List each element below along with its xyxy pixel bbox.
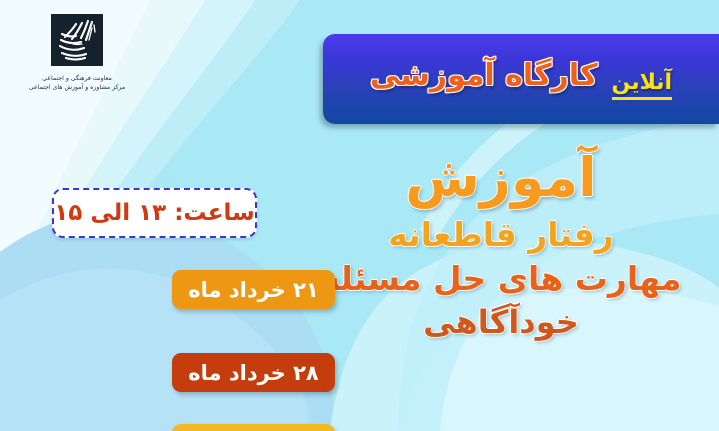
heading-line3: مهارت های حل مسئله [301,261,701,297]
university-seal-icon [48,12,106,70]
banner-subtitle: آنلاین [612,70,673,100]
date-badge-3: ۴ تیر ماه [172,424,335,431]
logo-caption-line2: مرکز مشاوره و آموزش های اجتماعی [12,84,142,93]
date-badge-2: ۲۸ خرداد ماه [172,353,335,392]
date-badge-1: ۲۱ خرداد ماه [172,270,335,309]
workshop-poster: معاونت فرهنگی و اجتماعی مرکز مشاوره و آم… [0,0,719,431]
heading-line2: رفتار قاطعانه [301,217,701,253]
logo-caption: معاونت فرهنگی و اجتماعی مرکز مشاوره و آم… [12,75,142,93]
banner-title: کارگاه آموزشی [370,58,598,93]
time-badge: ساعت: ۱۳ الی ۱۵ [52,188,257,238]
heading-group: آموزش رفتار قاطعانه مهارت های حل مسئله خ… [301,150,701,340]
logo-caption-line1: معاونت فرهنگی و اجتماعی [12,75,142,84]
heading-main: آموزش [301,150,701,207]
heading-line4: خودآگاهی [301,305,701,340]
university-logo-block: معاونت فرهنگی و اجتماعی مرکز مشاوره و آم… [12,8,142,93]
workshop-banner: آنلاین کارگاه آموزشی [323,34,719,124]
